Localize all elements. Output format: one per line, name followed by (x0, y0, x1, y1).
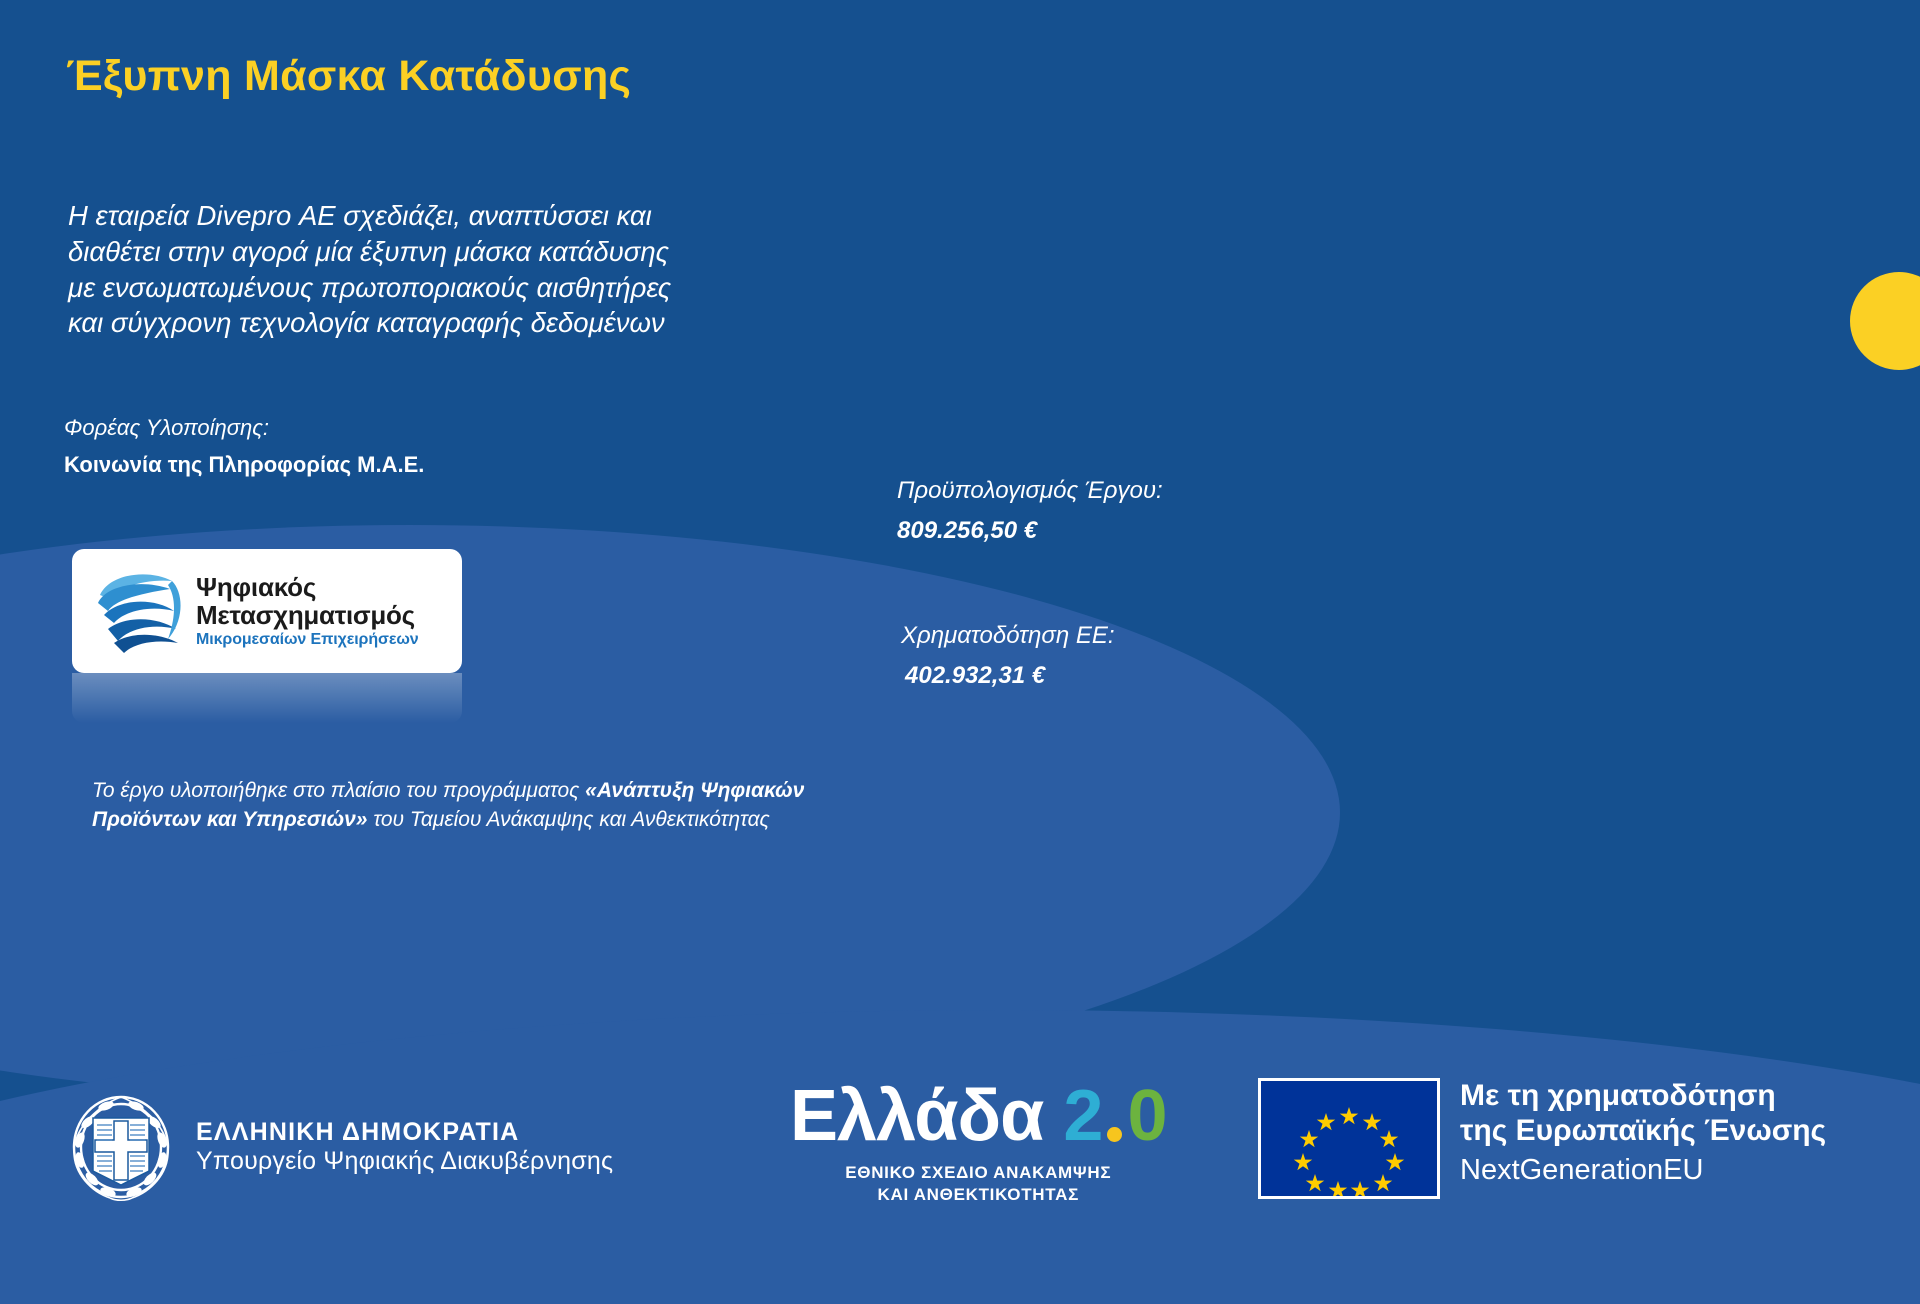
program-logo-line2: Μετασχηματισμός (196, 602, 419, 628)
hellenic-republic-words: ΕΛΛΗΝΙΚΗ ΔΗΜΟΚΡΑΤΙΑ Υπουργείο Ψηφιακής Δ… (196, 1118, 613, 1177)
description-line: με ενσωματωμένους πρωτοποριακούς αισθητή… (68, 270, 806, 306)
eu-funding-words: Με τη χρηματοδότηση της Ευρωπαϊκής Ένωση… (1460, 1078, 1826, 1187)
ellada-logo-text: Ελλάδα (790, 1080, 1043, 1152)
implementation-body-label: Φορέας Υλοποίησης: (64, 415, 269, 441)
eu-funding-label: Χρηματοδότηση ΕΕ: (901, 622, 1115, 650)
hellenic-republic-emblem-icon (62, 1088, 180, 1206)
description-line: Η εταιρεία Divepro ΑΕ σχεδιάζει, αναπτύσ… (68, 198, 806, 234)
project-budget-label: Προϋπολογισμός Έργου: (897, 477, 1163, 505)
yellow-circle-decoration (1850, 272, 1920, 370)
ellada-logo-dot-icon (1107, 1127, 1122, 1142)
hellenic-republic-block: ΕΛΛΗΝΙΚΗ ΔΗΜΟΚΡΑΤΙΑ Υπουργείο Ψηφιακής Δ… (62, 1088, 613, 1206)
ellada-logo-wordmark: Ελλάδα 2 0 (790, 1080, 1167, 1152)
description-line: και σύγχρονη τεχνολογία καταγραφής δεδομ… (68, 305, 806, 341)
eu-nextgeneration-label: NextGenerationEU (1460, 1153, 1826, 1187)
ellada-logo-subtitle: ΕΘΝΙΚΟ ΣΧΕΔΙΟ ΑΝΑΚΑΜΨΗΣ ΚΑΙ ΑΝΘΕΚΤΙΚΟΤΗΤ… (790, 1162, 1167, 1206)
page-title: Έξυπνη Μάσκα Κατάδυσης (66, 52, 631, 101)
eu-funding-line1: Με τη χρηματοδότηση (1460, 1078, 1826, 1113)
ellada-2-0-logo: Ελλάδα 2 0 ΕΘΝΙΚΟ ΣΧΕΔΙΟ ΑΝΑΚΑΜΨΗΣ ΚΑΙ Α… (790, 1080, 1167, 1206)
eu-funding-line2: της Ευρωπαϊκής Ένωσης (1460, 1113, 1826, 1148)
hellenic-republic-line1: ΕΛΛΗΝΙΚΗ ΔΗΜΟΚΡΑΤΙΑ (196, 1118, 613, 1148)
eu-funding-block: Με τη χρηματοδότηση της Ευρωπαϊκής Ένωση… (1258, 1078, 1826, 1199)
hellenic-republic-line2: Υπουργείο Ψηφιακής Διακυβέρνησης (196, 1147, 613, 1177)
european-union-flag-icon (1258, 1078, 1440, 1199)
program-footnote: Το έργο υλοποιήθηκε στο πλαίσιο του προγ… (92, 777, 832, 834)
ellada-subtitle-line1: ΕΘΝΙΚΟ ΣΧΕΔΙΟ ΑΝΑΚΑΜΨΗΣ (790, 1162, 1167, 1184)
ellada-logo-two: 2 (1063, 1080, 1102, 1152)
program-logo-words: Ψηφιακός Μετασχηματισμός Μικρομεσαίων Επ… (196, 574, 419, 648)
implementation-body-name: Κοινωνία της Πληροφορίας Μ.Α.Ε. (64, 452, 424, 478)
ellada-logo-zero: 0 (1127, 1080, 1166, 1152)
project-budget-value: 809.256,50 € (897, 517, 1037, 545)
digital-transformation-swirl-icon (84, 559, 192, 663)
eu-funding-value: 402.932,31 € (905, 662, 1045, 690)
footnote-part2: του Ταμείου Ανάκαμψης και Ανθεκτικότητας (367, 808, 769, 831)
presentation-slide: Έξυπνη Μάσκα Κατάδυσης Η εταιρεία Divepr… (0, 0, 1920, 1304)
description-line: διαθέτει στην αγορά μία έξυπνη μάσκα κατ… (68, 234, 806, 270)
project-description: Η εταιρεία Divepro ΑΕ σχεδιάζει, αναπτύσ… (68, 198, 806, 341)
program-logo-reflection (72, 673, 462, 723)
program-logo-line3: Μικρομεσαίων Επιχειρήσεων (196, 632, 419, 648)
program-logo-line1: Ψηφιακός (196, 574, 419, 600)
program-logo-card: Ψηφιακός Μετασχηματισμός Μικρομεσαίων Επ… (72, 549, 462, 673)
ellada-subtitle-line2: ΚΑΙ ΑΝΘΕΚΤΙΚΟΤΗΤΑΣ (790, 1184, 1167, 1206)
footnote-part1: Το έργο υλοποιήθηκε στο πλαίσιο του προγ… (92, 779, 585, 802)
